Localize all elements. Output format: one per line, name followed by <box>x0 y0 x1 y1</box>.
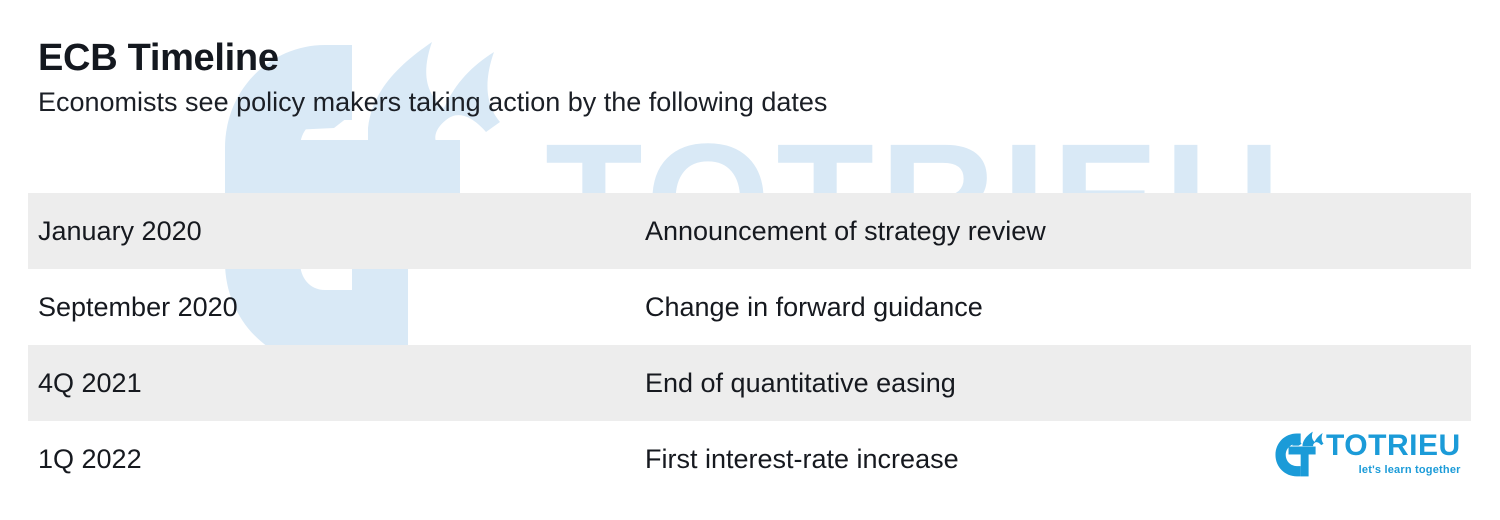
table-row: 1Q 2022 First interest-rate increase <box>28 421 1471 497</box>
table-row: September 2020 Change in forward guidanc… <box>28 269 1471 345</box>
totrieu-wordmark: TOTRIEU <box>1326 431 1461 461</box>
row-date: September 2020 <box>28 294 635 321</box>
table-row: 4Q 2021 End of quantitative easing <box>28 345 1471 421</box>
header: ECB Timeline Economists see policy maker… <box>38 38 827 118</box>
totrieu-logo: TOTRIEU let's learn together <box>1268 426 1448 488</box>
ecb-timeline-slide: TOTRIEU let's learn together ECB Timelin… <box>0 0 1500 520</box>
row-event: End of quantitative easing <box>635 370 1471 397</box>
row-date: 4Q 2021 <box>28 370 635 397</box>
row-date: 1Q 2022 <box>28 446 635 473</box>
page-subtitle: Economists see policy makers taking acti… <box>38 88 827 118</box>
page-title: ECB Timeline <box>38 38 827 79</box>
row-event: Announcement of strategy review <box>635 218 1471 245</box>
totrieu-flame-t-icon <box>1268 426 1324 482</box>
totrieu-logo-text: TOTRIEU let's learn together <box>1326 431 1461 476</box>
totrieu-tagline: let's learn together <box>1359 465 1461 476</box>
table-row: January 2020 Announcement of strategy re… <box>28 193 1471 269</box>
row-date: January 2020 <box>28 218 635 245</box>
timeline-table: January 2020 Announcement of strategy re… <box>28 193 1471 497</box>
row-event: Change in forward guidance <box>635 294 1471 321</box>
